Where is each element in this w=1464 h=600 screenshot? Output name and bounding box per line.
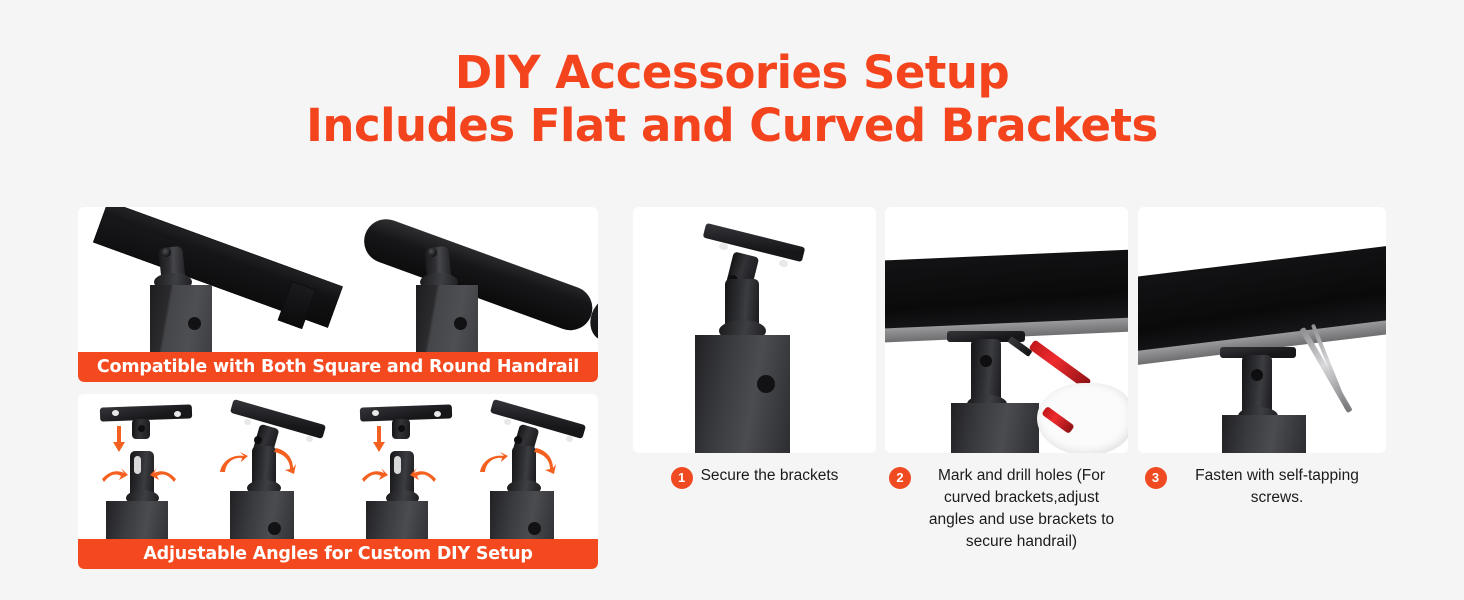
diy-accessories-infographic: DIY Accessories Setup Includes Flat and … [0,0,1464,600]
step-1-badge: 1 [671,467,693,489]
rotate-down-arrow-icon [534,446,556,476]
step1-bracket-photo [633,207,876,453]
step3-fastening-photo [1138,207,1386,453]
step2-marking-photo [885,207,1128,453]
step-2-caption: 2 Mark and drill holes (For curved brack… [885,465,1128,553]
compatibility-caption: Compatible with Both Square and Round Ha… [78,352,598,382]
compatibility-panel: Compatible with Both Square and Round Ha… [78,207,598,382]
feature-panels: Compatible with Both Square and Round Ha… [78,207,598,569]
step-1-text: Secure the brackets [701,465,839,487]
rotate-left-arrow-icon [478,452,508,474]
step-2: 2 Mark and drill holes (For curved brack… [885,207,1128,553]
step-1: 1 Secure the brackets [633,207,876,489]
installation-steps: 1 Secure the brackets 2 Mark and [633,207,1393,587]
step-2-text: Mark and drill holes (For curved bracket… [919,465,1124,553]
adjustable-angles-panel: Adjustable Angles for Custom DIY Setup [78,394,598,569]
step-3-text: Fasten with self-tapping screws. [1175,465,1380,509]
step-1-caption: 1 Secure the brackets [633,465,876,489]
adjustable-angles-caption: Adjustable Angles for Custom DIY Setup [78,539,598,569]
page-title: DIY Accessories Setup Includes Flat and … [0,46,1464,152]
title-line-2: Includes Flat and Curved Brackets [0,99,1464,152]
step-3-badge: 3 [1145,467,1167,489]
title-line-1: DIY Accessories Setup [0,46,1464,99]
step-3: 3 Fasten with self-tapping screws. [1138,207,1386,509]
step-2-badge: 2 [889,467,911,489]
step-3-caption: 3 Fasten with self-tapping screws. [1138,465,1386,509]
